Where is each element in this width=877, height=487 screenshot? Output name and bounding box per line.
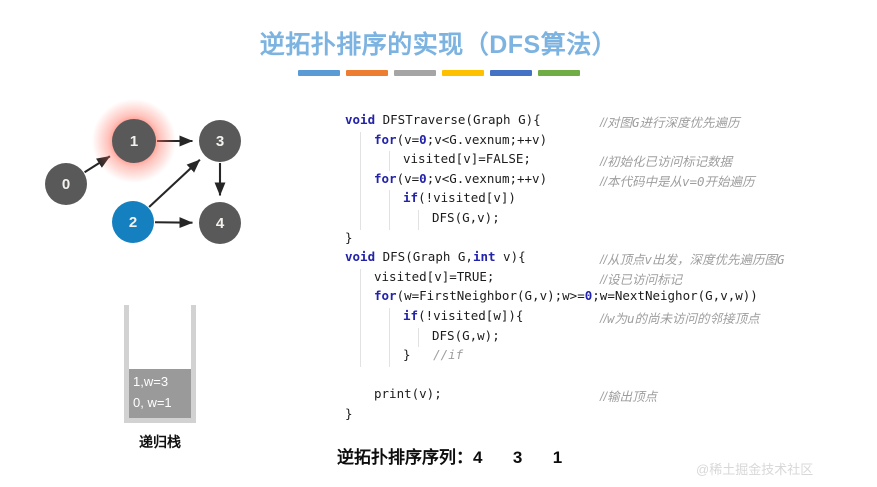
code-line-15: }	[345, 406, 865, 426]
code-text: } //if	[345, 347, 463, 362]
code-block: void DFSTraverse(Graph G){//对图G进行深度优先遍历f…	[345, 112, 865, 426]
code-text: }	[345, 230, 353, 245]
slide-canvas: 逆拓扑排序的实现（DFS算法） 01234 1,w=30, w=1	[0, 0, 877, 487]
code-token: (v=	[397, 171, 420, 186]
accent-bar-1	[298, 70, 340, 76]
code-text: for(v=0;v<G.vexnum;++v)	[345, 132, 547, 147]
code-line-11: DFS(G,w);	[345, 328, 865, 348]
code-inline-comment: //if	[433, 347, 463, 362]
code-token: print(v);	[374, 386, 442, 401]
code-text: void DFSTraverse(Graph G){	[345, 112, 541, 127]
code-line-1: for(v=0;v<G.vexnum;++v)	[345, 132, 865, 152]
indent-guide-g1	[360, 308, 361, 328]
code-text: DFS(G,v);	[345, 210, 500, 225]
graph-node-label-1: 1	[130, 133, 138, 150]
indent-guide-g1	[360, 132, 361, 152]
code-keyword: void	[345, 249, 375, 264]
code-text: visited[v]=FALSE;	[345, 151, 531, 166]
indent-guide-g3	[418, 210, 419, 230]
code-text: }	[345, 406, 353, 421]
code-number: 0	[419, 132, 427, 147]
stack-frame-1: 0, w=1	[129, 393, 191, 414]
code-line-4: if(!visited[v])	[345, 190, 865, 210]
comment-identifier: u	[627, 311, 635, 326]
indent-guide-g3	[418, 328, 419, 348]
stack-frame-0: 1,w=3	[129, 372, 191, 393]
code-token: v){	[496, 249, 526, 264]
indent-guide-g1	[360, 269, 361, 289]
code-token: }	[345, 230, 353, 245]
watermark: @稀土掘金技术社区	[696, 459, 813, 478]
code-token: ;w=NextNeighor(G,v,w))	[592, 288, 758, 303]
code-text: if(!visited[w]){	[345, 308, 523, 323]
stack-caption: 递归栈	[104, 432, 216, 452]
result-values: 4 3 1	[473, 448, 569, 467]
comment-identifier: G	[777, 252, 785, 267]
code-token	[345, 367, 353, 382]
code-token: }	[403, 347, 433, 362]
indent-guide-g2	[389, 347, 390, 367]
code-comment-0: //对图G进行深度优先遍历	[600, 112, 740, 131]
graph-node-label-2: 2	[129, 214, 137, 231]
code-comment-2: //初始化已访问标记数据	[600, 151, 732, 170]
accent-bar-5	[490, 70, 532, 76]
code-keyword: if	[403, 308, 418, 323]
code-token: }	[345, 406, 353, 421]
code-keyword: for	[374, 132, 397, 147]
code-comment-14: //输出顶点	[600, 386, 657, 405]
code-line-5: DFS(G,v);	[345, 210, 865, 230]
comment-identifier: w	[607, 311, 615, 326]
indent-guide-g1	[360, 210, 361, 230]
code-text: for(w=FirstNeighbor(G,v);w>=0;w=NextNeig…	[345, 288, 758, 303]
code-token: (w=FirstNeighbor(G,v);w>=	[397, 288, 585, 303]
code-token: (!visited[v])	[418, 190, 516, 205]
comment-identifier: G	[632, 115, 640, 130]
accent-bar-6	[538, 70, 580, 76]
graph-node-label-4: 4	[216, 215, 225, 232]
code-text: void DFS(Graph G,int v){	[345, 249, 526, 264]
graph-node-label-0: 0	[62, 176, 70, 193]
indent-guide-g2	[389, 190, 390, 210]
code-text: print(v);	[345, 386, 442, 401]
result-line: 逆拓扑排序序列：4 3 1	[337, 443, 569, 468]
code-line-12: } //if	[345, 347, 865, 367]
indent-guide-g1	[360, 328, 361, 348]
code-token: (v=	[397, 132, 420, 147]
code-comment-10: //w为u的尚未访问的邻接顶点	[600, 308, 760, 327]
indent-guide-g2	[389, 210, 390, 230]
code-token: DFSTraverse(Graph G){	[375, 112, 541, 127]
accent-bar-4	[442, 70, 484, 76]
code-keyword: if	[403, 190, 418, 205]
accent-bar-group	[0, 70, 877, 76]
code-line-13	[345, 367, 865, 387]
code-keyword: for	[374, 171, 397, 186]
indent-guide-g1	[360, 190, 361, 210]
code-token: DFS(G,w);	[432, 328, 500, 343]
code-line-3: for(v=0;v<G.vexnum;++v)//本代码中是从v=0开始遍历	[345, 171, 865, 191]
accent-bar-2	[346, 70, 388, 76]
indent-guide-g2	[389, 308, 390, 328]
code-text: if(!visited[v])	[345, 190, 516, 205]
graph-node-label-3: 3	[216, 133, 224, 150]
code-text: visited[v]=TRUE;	[345, 269, 494, 284]
code-line-7: void DFS(Graph G,int v){//从顶点v出发，深度优先遍历图…	[345, 249, 865, 269]
indent-guide-g1	[360, 347, 361, 367]
code-keyword: int	[473, 249, 496, 264]
stack-frame-list: 1,w=30, w=1	[129, 369, 191, 418]
stack-container: 1,w=30, w=1	[124, 305, 196, 423]
code-text: for(v=0;v<G.vexnum;++v)	[345, 171, 547, 186]
code-token: ;v<G.vexnum;++v)	[427, 171, 547, 186]
code-token: visited[v]=FALSE;	[403, 151, 531, 166]
result-label: 逆拓扑排序序列：	[337, 448, 473, 467]
indent-guide-g1	[360, 288, 361, 308]
indent-guide-g1	[360, 151, 361, 171]
code-keyword: for	[374, 288, 397, 303]
code-comment-7: //从顶点v出发，深度优先遍历图G	[600, 249, 785, 268]
code-line-0: void DFSTraverse(Graph G){//对图G进行深度优先遍历	[345, 112, 865, 132]
code-line-10: if(!visited[w]){//w为u的尚未访问的邻接顶点	[345, 308, 865, 328]
indent-guide-g2	[389, 328, 390, 348]
code-keyword: void	[345, 112, 375, 127]
indent-guide-g2	[389, 151, 390, 171]
code-line-9: for(w=FirstNeighbor(G,v);w>=0;w=NextNeig…	[345, 288, 865, 308]
code-comment-3: //本代码中是从v=0开始遍历	[600, 171, 755, 190]
indent-guide-g1	[360, 171, 361, 191]
code-line-6: }	[345, 230, 865, 250]
code-line-8: visited[v]=TRUE;//设已访问标记	[345, 269, 865, 289]
graph-diagram-panel: 01234	[26, 96, 266, 256]
accent-bar-3	[394, 70, 436, 76]
graph-svg: 01234	[26, 96, 266, 256]
comment-identifier: v	[644, 252, 652, 267]
code-token: ;v<G.vexnum;++v)	[427, 132, 547, 147]
recursion-stack-panel: 1,w=30, w=1 递归栈	[104, 305, 216, 452]
code-line-2: visited[v]=FALSE;//初始化已访问标记数据	[345, 151, 865, 171]
code-number: 0	[419, 171, 427, 186]
code-token: (!visited[w]){	[418, 308, 523, 323]
page-title: 逆拓扑排序的实现（DFS算法）	[0, 32, 877, 60]
code-token: visited[v]=TRUE;	[374, 269, 494, 284]
code-text	[345, 367, 353, 382]
code-comment-8: //设已访问标记	[600, 269, 682, 288]
comment-identifier: v=0	[682, 174, 705, 189]
title-block: 逆拓扑排序的实现（DFS算法）	[0, 32, 877, 76]
code-token: DFS(Graph G,	[375, 249, 473, 264]
code-token: DFS(G,v);	[432, 210, 500, 225]
code-line-14: print(v);//输出顶点	[345, 386, 865, 406]
code-text: DFS(G,w);	[345, 328, 500, 343]
